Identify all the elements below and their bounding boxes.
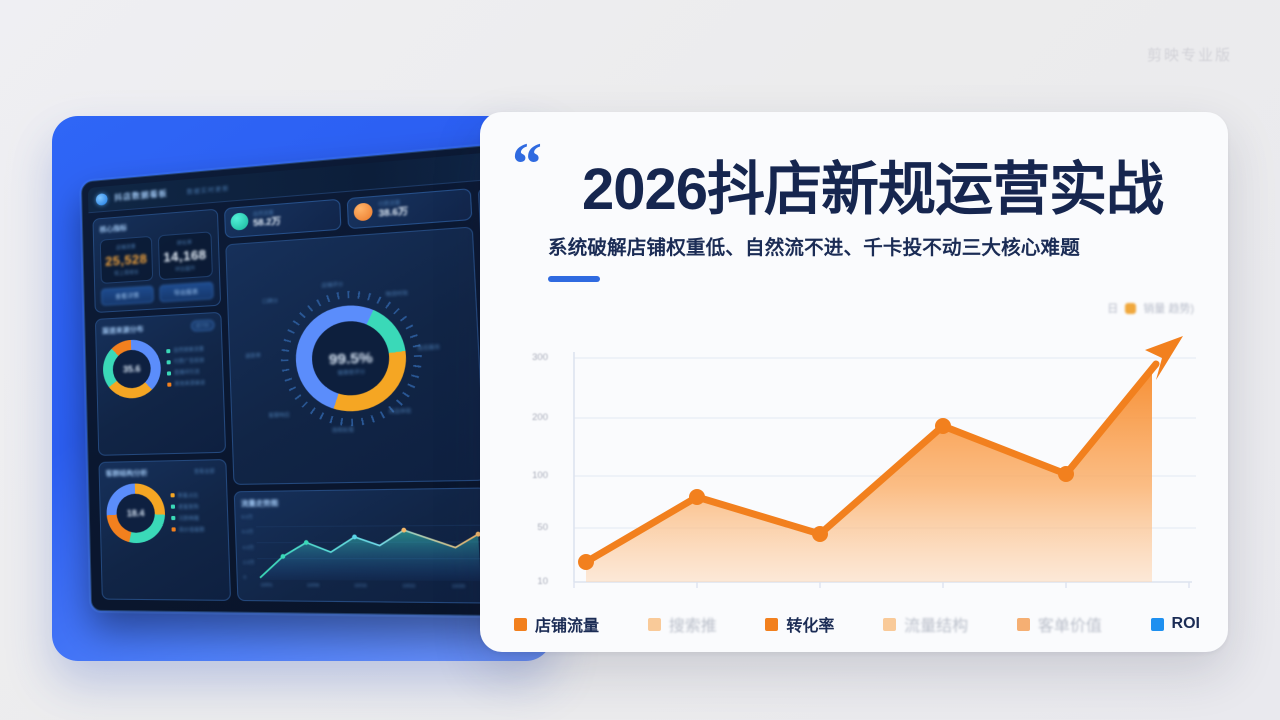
calendar-icon: 日	[1107, 300, 1118, 316]
list-item: 自然搜索流量	[166, 345, 204, 354]
legend-swatch	[167, 360, 171, 364]
traffic-y-axis: 8.0万 6.0万 4.0万 2.0万 0	[241, 514, 258, 580]
kpi-value: 14,168	[163, 247, 207, 265]
x-tick: 10/08	[307, 582, 320, 587]
legend-swatch	[171, 516, 175, 520]
natural-traffic-icon	[230, 213, 248, 232]
x-axis-ticks	[574, 582, 1189, 588]
traffic-x-axis: 10/01 10/08 10/15 10/22 10/29	[244, 582, 484, 589]
health-donut-value: 99.5%	[329, 348, 373, 367]
paid-traffic-icon	[354, 203, 373, 222]
legend-swatch	[1017, 618, 1030, 631]
mini-metric-card[interactable]: 付费流量 38.6万	[347, 188, 473, 229]
dashboard-title: 抖店数据看板	[114, 188, 168, 203]
channel-donut-wrap: 35.6 自然搜索流量 付费广告投放	[102, 336, 216, 400]
channel-donut-legend: 自然搜索流量 付费广告投放 直播间引流	[166, 345, 205, 387]
y-tick: 6.0万	[242, 529, 254, 535]
x-tick: 10/15	[354, 583, 367, 589]
legend-label: 搜索推	[669, 612, 717, 636]
data-point	[935, 418, 951, 434]
spoke-label: 违规处理	[332, 426, 354, 434]
legend-swatch	[167, 382, 171, 386]
legend-label: 直播间引流	[174, 368, 200, 376]
traffic-chart-body: 8.0万 6.0万 4.0万 2.0万 0	[241, 512, 483, 581]
chart-top-legend: 日 销量 趋势)	[1107, 300, 1194, 316]
export-report-button[interactable]: 导出报表	[159, 282, 213, 302]
quote-mark-icon: “	[512, 134, 542, 194]
x-tick: 10/22	[402, 583, 415, 589]
legend-label: 新客占比	[178, 491, 199, 499]
legend-item-2[interactable]: 转化率	[765, 612, 834, 636]
legend-swatch	[172, 527, 176, 531]
list-item: 老客复购	[171, 503, 204, 511]
watermark: 剪映专业版	[1147, 44, 1232, 65]
y-axis-tick: 50	[514, 522, 548, 533]
data-point	[578, 554, 594, 570]
legend-swatch	[514, 618, 527, 631]
list-item: 直播间引流	[167, 368, 205, 377]
channel-panel-title: 渠道来源分布	[102, 324, 144, 336]
kpi-panel: 核心指标 店铺流量 25,528 较上周增长 转化率 14,168 环比提升	[92, 209, 220, 313]
list-item: 沉默唤醒	[171, 514, 204, 522]
health-score-panel: 99.5% 健康度评分 店铺评分 物流时效 售后服务 商品体验 违规处理 客服响…	[225, 226, 487, 485]
y-axis-tick: 300	[514, 352, 548, 363]
health-donut-wrap: 99.5% 健康度评分 店铺评分 物流时效 售后服务 商品体验 违规处理 客服响…	[279, 286, 426, 428]
legend-label: 高价值客群	[179, 526, 205, 533]
kpi-value: 25,528	[105, 251, 148, 269]
legend-swatch	[765, 618, 778, 631]
legend-swatch	[171, 505, 175, 509]
chart-legend: 店铺流量 搜索推 转化率 流量结构 客单价值 ROI	[514, 612, 1200, 636]
y-axis-tick: 200	[514, 412, 548, 423]
y-axis-tick: 10	[514, 576, 548, 587]
legend-item-0[interactable]: 店铺流量	[514, 612, 599, 636]
y-tick: 0	[243, 574, 255, 579]
divider	[548, 276, 600, 282]
customer-panel-title: 客群结构分析	[106, 467, 148, 478]
legend-label: 店铺流量	[535, 612, 599, 636]
channel-panel-pill[interactable]: 近7日	[191, 319, 215, 331]
customer-donut-legend: 新客占比 老客复购 沉默唤醒	[170, 491, 204, 533]
legend-label: 客单价值	[1038, 612, 1102, 636]
page-subtitle: 系统破解店铺权重低、自然流不进、千卡投不动三大核心难题	[548, 231, 1194, 260]
list-item: 付费广告投放	[167, 357, 205, 366]
data-point	[1058, 466, 1074, 482]
customer-donut-value: 18.4	[127, 508, 145, 518]
mini-card-value: 58.2万	[253, 216, 281, 230]
blue-feature-card: 抖店数据看板 数据实时更新 运营中心 账号设置 核心指标 店铺	[52, 116, 552, 661]
legend-swatch	[167, 371, 171, 375]
chart-top-legend-label: 销量 趋势)	[1143, 300, 1194, 316]
logo-dot-icon	[96, 193, 108, 206]
spoke-label: 口碑分	[262, 297, 278, 305]
legend-label: 老客复购	[178, 503, 199, 511]
chart-svg	[556, 330, 1196, 588]
legend-label: 自然搜索流量	[173, 345, 204, 354]
dashboard-left-column: 核心指标 店铺流量 25,528 较上周增长 转化率 14,168 环比提升	[92, 209, 230, 601]
legend-label: 转化率	[786, 612, 834, 636]
kpi-panel-title: 核心指标	[99, 223, 127, 235]
mini-card-text: 自然流量 58.2万	[253, 210, 282, 230]
legend-swatch	[883, 618, 896, 631]
y-axis-tick: 100	[514, 470, 548, 481]
x-tick: 10/29	[452, 583, 465, 589]
y-tick: 8.0万	[241, 514, 253, 520]
traffic-area-chart	[256, 512, 483, 581]
spoke-label: 商品体验	[389, 407, 412, 415]
data-point	[812, 526, 828, 542]
mini-card-text: 付费流量 38.6万	[378, 200, 408, 221]
spoke-label: 退款率	[245, 352, 261, 360]
dashboard-center-column: 自然流量 58.2万 付费流量 38.6万	[224, 188, 493, 604]
kpi-card[interactable]: 转化率 14,168 环比提升	[158, 231, 213, 280]
customer-panel-head: 客群结构分析 查看全部	[106, 466, 220, 479]
channel-panel-head: 渠道来源分布 近7日	[102, 319, 214, 336]
view-detail-button[interactable]: 查看详情	[101, 286, 154, 306]
spoke-label: 店铺评分	[321, 280, 343, 289]
customer-donut-wrap: 18.4 新客占比 老客复购	[106, 482, 221, 543]
legend-item-5[interactable]: ROI	[1151, 615, 1200, 633]
legend-label: 付费广告投放	[174, 357, 205, 366]
x-tick: 10/01	[260, 582, 272, 587]
kpi-foot: 环比提升	[164, 264, 208, 274]
hero-content-card: “ 2026抖店新规运营实战 系统破解店铺权重低、自然流不进、千卡投不动三大核心…	[480, 112, 1228, 652]
growth-area-chart: 300 200 100 50 10	[514, 330, 1200, 590]
kpi-card-row: 店铺流量 25,528 较上周增长 转化率 14,168 环比提升	[100, 231, 213, 284]
kpi-foot: 较上周增长	[105, 268, 147, 278]
legend-label: 流量结构	[904, 612, 968, 636]
legend-label: 其他来源渠道	[174, 379, 205, 387]
page-title: 2026抖店新规运营实战	[582, 160, 1194, 221]
traffic-trend-panel: 流量走势图 8.0万 6.0万 4.0万 2.0万 0	[233, 487, 493, 603]
legend-swatch	[1151, 618, 1164, 631]
channel-donut-chart: 35.6	[102, 338, 161, 399]
traffic-panel-head: 流量走势图	[241, 495, 480, 509]
y-tick: 4.0万	[242, 544, 254, 550]
spoke-label: 物流时效	[385, 289, 408, 298]
customer-donut-panel: 客群结构分析 查看全部 18.4 新客占比	[98, 459, 230, 601]
kpi-button-row: 查看详情 导出报表	[101, 282, 213, 306]
legend-swatch	[166, 349, 170, 353]
data-point	[689, 489, 705, 505]
spoke-label: 售后服务	[417, 343, 440, 352]
dashboard-subtitle: 数据实时更新	[187, 184, 230, 197]
legend-item-4[interactable]: 客单价值	[1017, 612, 1102, 636]
legend-swatch	[648, 618, 661, 631]
legend-label: 沉默唤醒	[178, 514, 199, 521]
kpi-card[interactable]: 店铺流量 25,528 较上周增长	[100, 236, 153, 284]
legend-label: ROI	[1172, 615, 1200, 633]
legend-swatch	[171, 493, 175, 497]
customer-panel-pill[interactable]: 查看全部	[190, 466, 219, 476]
list-item: 高价值客群	[171, 526, 204, 533]
list-item: 新客占比	[170, 491, 203, 499]
customer-donut-chart: 18.4	[106, 483, 166, 543]
traffic-panel-title: 流量走势图	[241, 498, 279, 509]
channel-donut-panel: 渠道来源分布 近7日 35.6 自然搜索流量	[95, 312, 226, 456]
list-item: 其他来源渠道	[167, 379, 205, 388]
mini-card-value: 38.6万	[378, 206, 408, 220]
channel-donut-value: 35.6	[123, 364, 141, 375]
y-tick: 2.0万	[243, 559, 255, 565]
mini-metric-card[interactable]: 自然流量 58.2万	[224, 199, 342, 238]
legend-item-1[interactable]: 搜索推	[648, 612, 717, 636]
legend-item-3[interactable]: 流量结构	[883, 612, 968, 636]
legend-swatch	[1125, 303, 1136, 314]
spoke-label: 客服响应	[268, 411, 290, 419]
